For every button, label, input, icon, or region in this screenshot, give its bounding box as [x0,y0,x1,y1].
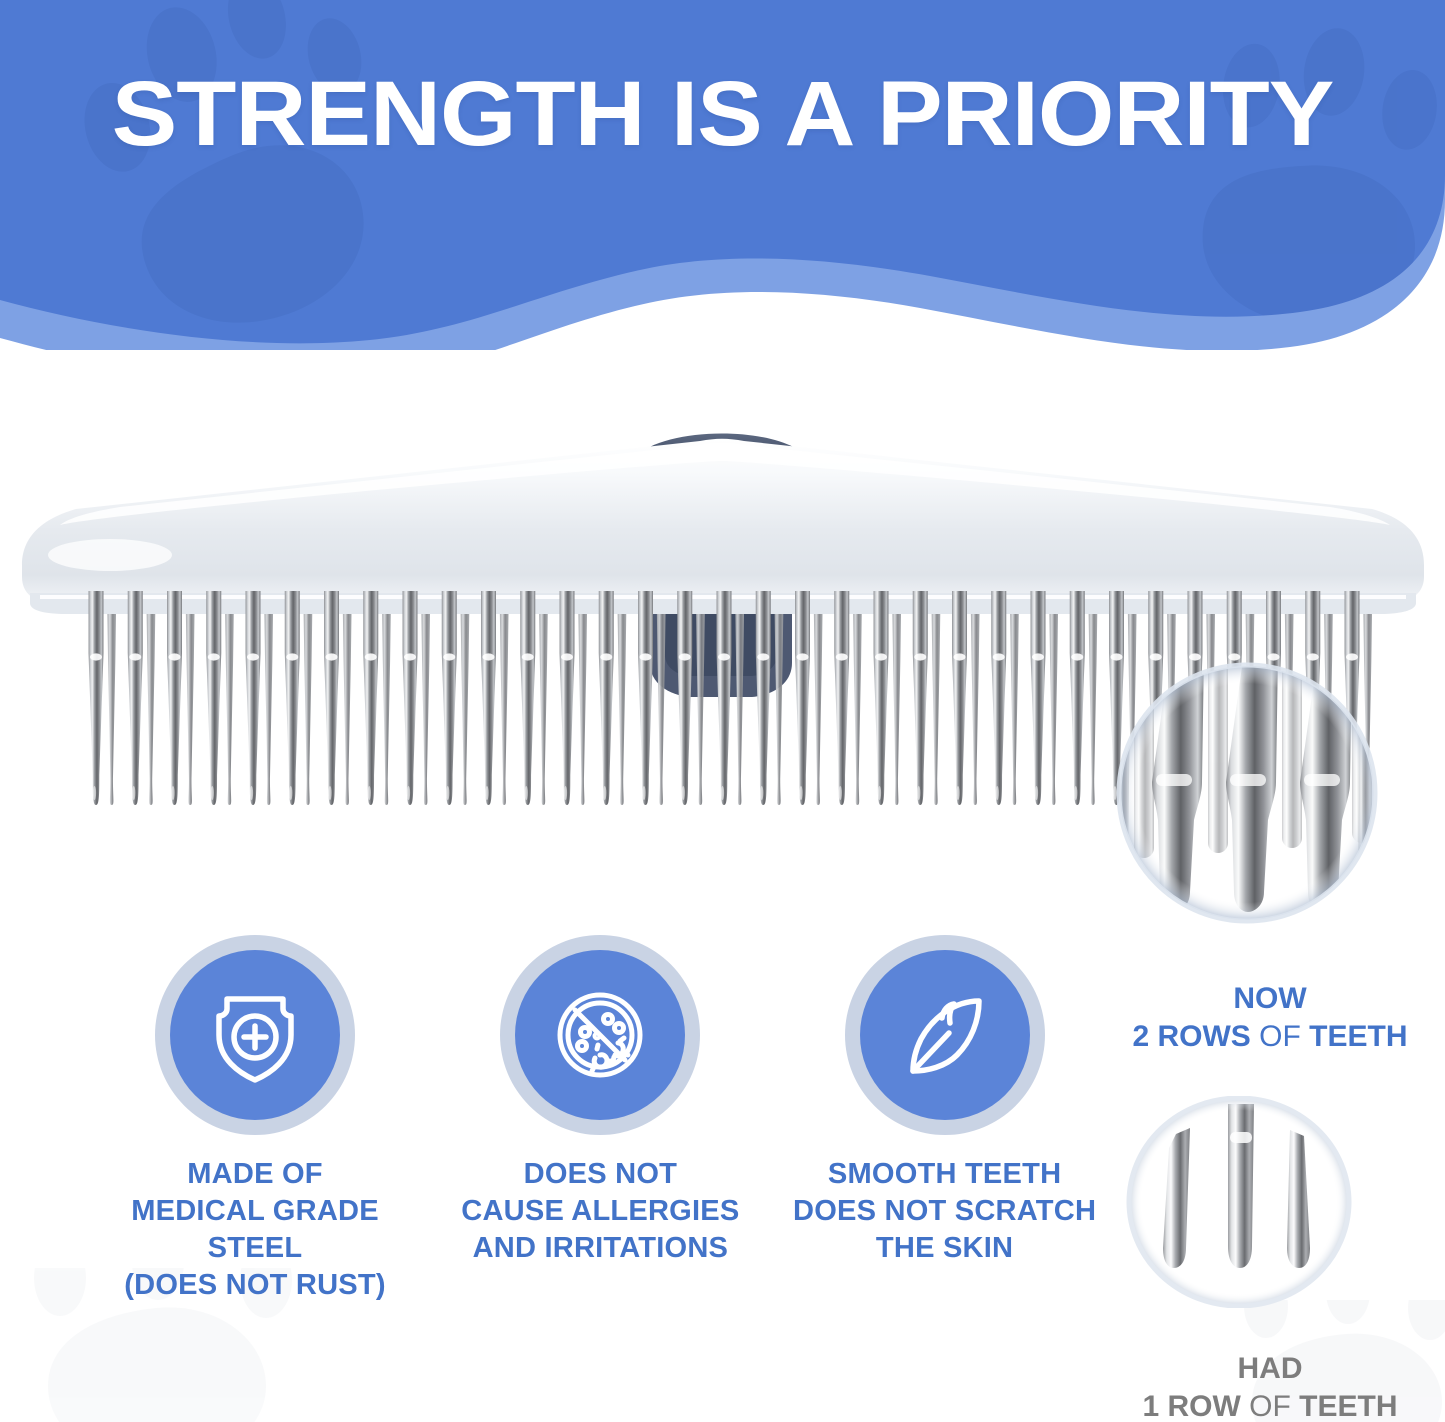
comb-tooth-highlight [483,653,495,660]
comb-body [22,439,1424,614]
comb-tooth-back [931,591,940,805]
comb-tooth-tip-gleam [132,786,135,800]
comb-tooth-highlight [836,653,848,660]
comb-tooth-highlight [561,653,573,660]
label-now-of: OF [1251,1020,1309,1053]
comb-tooth-tip-gleam [250,786,253,800]
feature-badge-fill-2 [515,950,685,1120]
comb-tooth-tip-gleam [603,786,606,800]
magnified-teeth-inset-now [1116,662,1378,924]
comb-tooth-front [874,591,889,805]
feature-caption-1: MADE OF MEDICAL GRADE STEEL (DOES NOT RU… [92,1156,418,1304]
comb-tooth-highlight [875,653,887,660]
comb-tooth-back [1049,591,1058,805]
comb-tooth-back [735,591,744,805]
label-now-teeth: TEETH [1309,1020,1407,1053]
feature-list: MADE OF MEDICAL GRADE STEEL (DOES NOT RU… [95,935,1105,1280]
feature-badge-ring-1 [155,935,355,1135]
comb-tooth-highlight [208,653,220,660]
comb-tooth-back [971,591,980,805]
comb-tooth-back [774,591,783,805]
comb-tooth-back [264,591,273,805]
comb-tooth-front [599,591,614,805]
comb-tooth-tip-gleam [407,786,410,800]
comb-tooth-back [146,591,155,805]
comb-tooth-front [167,591,182,805]
comb-tooth-highlight [757,653,769,660]
comb-tooth-tip-gleam [368,786,371,800]
infographic-canvas: STRENGTH IS A PRIORITY [0,0,1445,1422]
comb-tooth-highlight [1032,653,1044,660]
label-now-rows: 2 ROWS [1132,1020,1250,1053]
feature-badge-fill-3 [860,950,1030,1120]
comb-tooth-tip-gleam [1074,786,1077,800]
comb-tooth-highlight [914,653,926,660]
comb-tooth-tip-gleam [682,786,685,800]
comb-tooth-highlight [954,653,966,660]
comb-tooth-tip-gleam [328,786,331,800]
comb-tooth-highlight [443,653,455,660]
comb-tooth-highlight [286,653,298,660]
comb-tooth-back [1010,591,1019,805]
comb-tooth-back [107,591,116,805]
feature-item-smooth: SMOOTH TEETH DOES NOT SCRATCH THE SKIN [785,935,1105,1267]
comb-tooth-back [853,591,862,805]
comb-tooth-back [460,591,469,805]
comb-tooth-back [186,591,195,805]
magnified-teeth-inset-had [1124,1096,1354,1308]
comb-tooth-tip-gleam [956,786,959,800]
comb-tooth-back [500,591,509,805]
comb-tooth-front [1070,591,1085,805]
comb-tooth-front [128,591,143,805]
no-bacteria-allergy-icon [548,983,652,1087]
page-title: STRENGTH IS A PRIORITY [0,62,1445,167]
comb-tooth-tip-gleam [917,786,920,800]
comb-tooth-back [578,591,587,805]
comb-tooth-tip-gleam [485,786,488,800]
comb-tooth-highlight [1307,653,1319,660]
comb-tooth-tip-gleam [564,786,567,800]
comb-tooth-highlight [1111,653,1123,660]
comb-tooth-highlight [718,653,730,660]
feature-badge-fill-1 [170,950,340,1120]
comb-tooth-tip-gleam [93,786,96,800]
feature-caption-2: DOES NOT CAUSE ALLERGIES AND IRRITATIONS [461,1156,739,1267]
comb-tooth-front [795,591,810,805]
feature-badge-ring-2 [500,935,700,1135]
comb-tooth-tip-gleam [525,786,528,800]
comb-tooth-front [717,591,732,805]
comb-tooth-highlight [169,653,181,660]
comb-tooth-tip-gleam [211,786,214,800]
comb-tooth-tip-gleam [996,786,999,800]
comb-tooth-highlight [1189,653,1201,660]
comb-tooth-highlight [1268,653,1280,660]
comb-tooth-back [1088,591,1097,805]
comb-tooth-tip-gleam [1035,786,1038,800]
comb-tooth-tip-gleam [760,786,763,800]
comparison-label-now: NOW 2 ROWS OF TEETH [1095,980,1445,1056]
comb-tooth-highlight [90,653,102,660]
label-had-line2: 1 ROW OF TEETH [1095,1388,1445,1422]
comb-tooth-back [657,591,666,805]
comb-tooth-highlight [993,653,1005,660]
comb-tooth-back [617,591,626,805]
comb-tooth-front [442,591,457,805]
comb-tooth-highlight [1071,653,1083,660]
label-had-of: OF [1241,1390,1299,1422]
comb-tooth-front [913,591,928,805]
label-now-line1: NOW [1095,980,1445,1018]
comb-tooth-front [991,591,1006,805]
header-wave-shape [0,0,1445,350]
comb-tooth-highlight [247,653,259,660]
comb-tooth-highlight [129,653,141,660]
comb-tooth-back [539,591,548,805]
comb-tooth-back [892,591,901,805]
comb-tooth-front [756,591,771,805]
comb-tooth-highlight [600,653,612,660]
comb-tooth-highlight [326,653,338,660]
comb-tooth-highlight [1150,653,1162,660]
comb-tooth-highlight [404,653,416,660]
comb-tooth-front [89,591,104,805]
comb-tooth-front [481,591,496,805]
feature-item-steel: MADE OF MEDICAL GRADE STEEL (DOES NOT RU… [95,935,415,1304]
label-now-line2: 2 ROWS OF TEETH [1095,1018,1445,1056]
comb-tooth-front [1031,591,1046,805]
comb-tooth-tip-gleam [799,786,802,800]
feature-caption-3: SMOOTH TEETH DOES NOT SCRATCH THE SKIN [793,1156,1096,1267]
comb-tooth-front [363,591,378,805]
comb-tooth-front [403,591,418,805]
comb-tooth-back [303,591,312,805]
comb-tooth-front [285,591,300,805]
label-had-teeth: TEETH [1299,1390,1397,1422]
comparison-label-had: HAD 1 ROW OF TEETH [1095,1350,1445,1422]
comb-tooth-highlight [365,653,377,660]
comb-tooth-front [324,591,339,805]
comb-tooth-tip-gleam [642,786,645,800]
comb-tooth-tip-gleam [446,786,449,800]
label-had-line1: HAD [1095,1350,1445,1388]
comb-tooth-back [343,591,352,805]
comb-tooth-tip-gleam [839,786,842,800]
shield-medical-cross-icon [203,983,307,1087]
comb-tooth-front [246,591,261,805]
comb-tooth-front [677,591,692,805]
comb-tooth-back [696,591,705,805]
feature-badge-ring-3 [845,935,1045,1135]
comb-tooth-highlight [640,653,652,660]
comb-tooth-highlight [679,653,691,660]
header-banner: STRENGTH IS A PRIORITY [0,0,1445,350]
comb-tooth-tip-gleam [289,786,292,800]
comb-tooth-back [421,591,430,805]
comb-tooth-front [952,591,967,805]
label-had-rows: 1 ROW [1142,1390,1240,1422]
comb-tooth-tip-gleam [721,786,724,800]
comb-tooth-front [834,591,849,805]
feature-item-allergy: DOES NOT CAUSE ALLERGIES AND IRRITATIONS [440,935,760,1267]
comb-tooth-highlight [1228,653,1240,660]
comb-tooth-back [814,591,823,805]
comb-tooth-back [225,591,234,805]
comb-tooth-highlight [1346,653,1358,660]
comb-tooth-front [560,591,575,805]
comb-tooth-tip-gleam [878,786,881,800]
comb-tooth-highlight [797,653,809,660]
comb-tooth-front [638,591,653,805]
comb-tooth-highlight [522,653,534,660]
comb-tooth-front [206,591,221,805]
feather-icon [893,983,997,1087]
comb-tooth-tip-gleam [171,786,174,800]
comb-tooth-front [520,591,535,805]
comb-tooth-back [382,591,391,805]
